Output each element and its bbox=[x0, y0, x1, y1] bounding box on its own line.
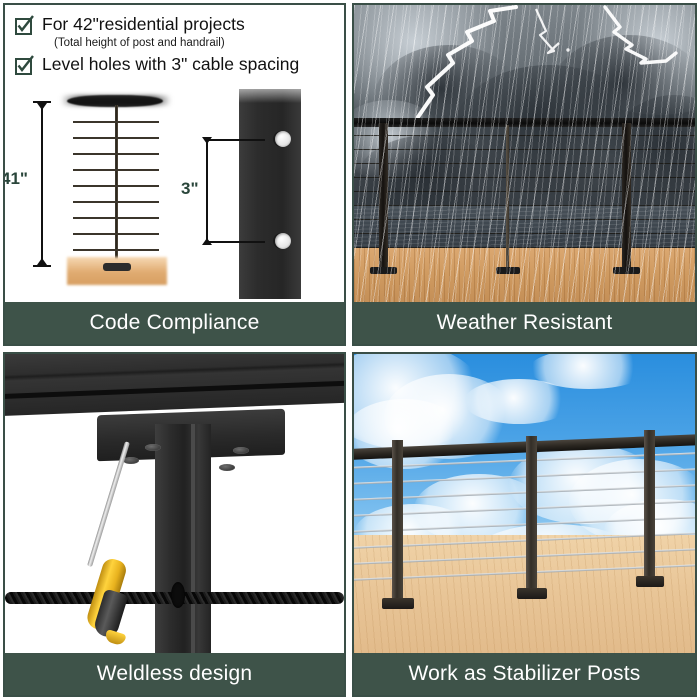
post-base-plate bbox=[496, 267, 520, 274]
post-base-plate bbox=[103, 263, 131, 271]
bullet-item-1: For 42"residential projects bbox=[14, 13, 338, 36]
cable-hole-bottom bbox=[275, 233, 291, 249]
railing-post-right bbox=[622, 123, 631, 271]
checkbox-checked-icon bbox=[14, 55, 36, 75]
screw-icon bbox=[145, 444, 161, 451]
wood-deck bbox=[354, 248, 695, 302]
dimension-label-3: 3" bbox=[181, 179, 199, 199]
railing-post-right bbox=[644, 430, 655, 582]
vertical-post bbox=[155, 424, 211, 653]
cable-hole-top bbox=[275, 131, 291, 147]
railing-top-rail bbox=[354, 118, 695, 127]
spacing-dimension-3: 3" bbox=[193, 137, 253, 245]
post-base-plate bbox=[613, 267, 640, 274]
wood-deck-base bbox=[67, 257, 167, 285]
feature-grid: For 42"residential projects (Total heigh… bbox=[0, 0, 700, 700]
screwdriver-cap bbox=[104, 629, 127, 646]
sky-scene bbox=[354, 354, 695, 653]
storm-scene bbox=[354, 5, 695, 302]
screw-icon bbox=[123, 457, 139, 464]
railing-post-left bbox=[392, 440, 403, 604]
caption-stabilizer-posts: Work as Stabilizer Posts bbox=[354, 653, 695, 695]
cable-hole bbox=[171, 582, 185, 608]
panel-code-compliance: For 42"residential projects (Total heigh… bbox=[3, 3, 346, 346]
weldless-scene bbox=[5, 354, 344, 653]
post-base-plate bbox=[517, 588, 547, 599]
checkbox-checked-icon bbox=[14, 15, 36, 35]
railing-stabilizer-post-middle bbox=[506, 125, 509, 269]
bullet-subtext: (Total height of post and handrail) bbox=[54, 36, 338, 50]
panel-weather-resistant: Weather Resistant bbox=[352, 3, 697, 346]
bullet-label-1: For 42"residential projects bbox=[42, 13, 245, 36]
weldless-design-photo bbox=[5, 354, 344, 653]
panel-weldless-design: Weldless design bbox=[3, 352, 346, 697]
stabilizer-posts-photo bbox=[354, 354, 695, 653]
bullet-label-2: Level holes with 3" cable spacing bbox=[42, 53, 299, 76]
caption-weldless-design: Weldless design bbox=[5, 653, 344, 695]
vertical-post bbox=[115, 105, 118, 273]
post-base-plate bbox=[370, 267, 397, 274]
caption-weather-resistant: Weather Resistant bbox=[354, 302, 695, 344]
measurement-diagram: 41" bbox=[5, 89, 344, 299]
screw-icon bbox=[219, 464, 235, 471]
railing-stabilizer-post-middle bbox=[526, 436, 537, 594]
railing-post-left bbox=[379, 123, 388, 271]
post-cable-elevation bbox=[73, 95, 159, 285]
bullet-list: For 42"residential projects (Total heigh… bbox=[14, 13, 338, 76]
panel-stabilizer-posts: Work as Stabilizer Posts bbox=[352, 352, 697, 697]
caption-code-compliance: Code Compliance bbox=[5, 302, 344, 344]
dimension-label-41: 41" bbox=[5, 169, 28, 189]
code-compliance-illustration: For 42"residential projects (Total heigh… bbox=[5, 5, 344, 302]
handrail-blur bbox=[61, 96, 171, 105]
height-dimension-41: 41" bbox=[27, 101, 57, 267]
bullet-item-2: Level holes with 3" cable spacing bbox=[14, 53, 338, 76]
weather-resistant-photo bbox=[354, 5, 695, 302]
screw-icon bbox=[233, 447, 249, 454]
post-base-plate bbox=[636, 576, 664, 587]
post-edge-highlight bbox=[191, 424, 195, 653]
post-base-plate bbox=[382, 598, 414, 609]
